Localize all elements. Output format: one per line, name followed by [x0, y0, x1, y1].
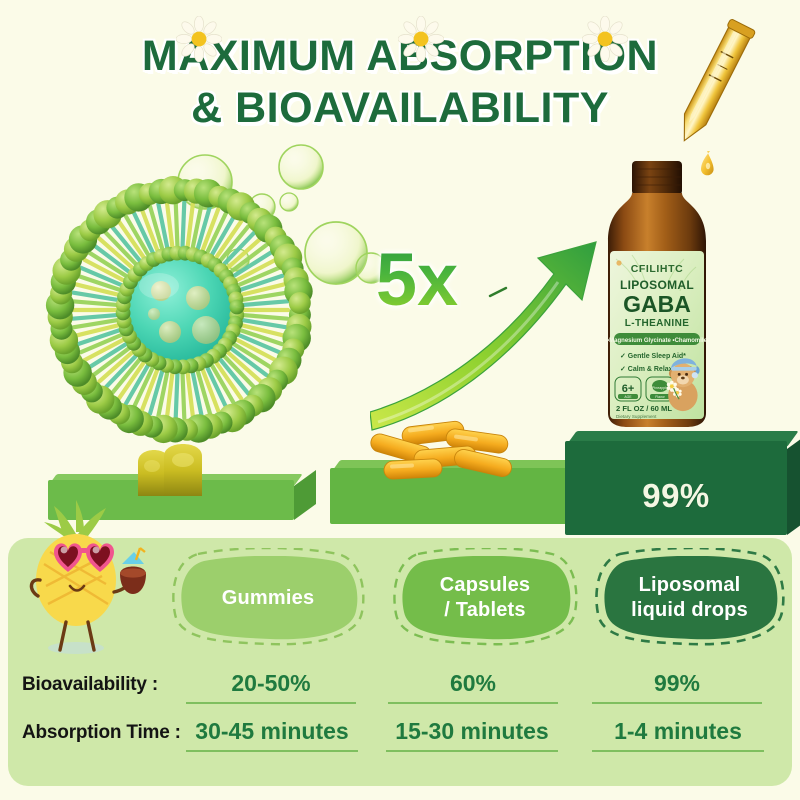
svg-text:Dietary Supplement: Dietary Supplement — [616, 414, 657, 419]
cell-value: 30-45 minutes — [186, 718, 358, 752]
category-label: Liposomal liquid drops — [592, 548, 787, 648]
gummies-illustration — [130, 440, 240, 498]
product-bottle: CFILIHTC LIPOSOMAL GABA L-THEANINE •Magn… — [592, 155, 722, 430]
category-blob-gummies[interactable]: Gummies — [168, 548, 368, 648]
infographic-canvas: MAXIMUM ABSORPTION & BIOAVAILABILITY — [0, 0, 800, 800]
multiplier-badge: 5x — [352, 243, 482, 317]
daisy-icon — [398, 16, 444, 62]
cell-value: 1-4 minutes — [592, 718, 764, 752]
row-label: Bioavailability : — [22, 674, 202, 696]
svg-text:2 FL OZ / 60 ML: 2 FL OZ / 60 ML — [616, 404, 672, 413]
svg-text:L-THEANINE: L-THEANINE — [625, 318, 690, 329]
table-row-absorption-time: Absorption Time : 30-45 minutes 15-30 mi… — [0, 716, 800, 762]
svg-text:Pineapple: Pineapple — [652, 386, 668, 390]
svg-text:✓ Gentle Sleep Aid*: ✓ Gentle Sleep Aid* — [620, 353, 686, 360]
row-label: Absorption Time : — [22, 722, 202, 744]
liposome-illustration — [28, 160, 338, 460]
svg-text:•Magnesium Glycinate •Chamomil: •Magnesium Glycinate •Chamomile — [607, 338, 708, 344]
bioavailability-highlight-label: 99% — [565, 477, 787, 515]
category-blob-liposomal[interactable]: Liposomal liquid drops — [592, 548, 787, 648]
category-blobs: Gummies Capsules / Tablets Liposomal liq… — [0, 548, 800, 648]
svg-text:AGE: AGE — [624, 395, 632, 399]
cell-value: 99% — [592, 670, 762, 704]
category-label: Gummies — [168, 548, 368, 648]
svg-text:GABA: GABA — [623, 291, 691, 317]
pedestal-liposomal: 99% — [565, 425, 800, 540]
table-row-bioavailability: Bioavailability : 20-50% 60% 99% — [0, 668, 800, 714]
svg-text:Flavor: Flavor — [655, 395, 665, 399]
category-label: Capsules / Tablets — [390, 548, 580, 648]
svg-text:6+: 6+ — [622, 383, 635, 395]
cell-value: 15-30 minutes — [386, 718, 558, 752]
svg-text:CFILIHTC: CFILIHTC — [631, 263, 684, 275]
cell-value: 60% — [388, 670, 558, 704]
svg-text:LIPOSOMAL: LIPOSOMAL — [620, 278, 694, 292]
cell-value: 20-50% — [186, 670, 356, 704]
daisy-icon — [176, 16, 222, 62]
daisy-icon — [582, 16, 628, 62]
category-blob-capsules[interactable]: Capsules / Tablets — [390, 548, 580, 648]
capsules-illustration — [350, 420, 530, 490]
